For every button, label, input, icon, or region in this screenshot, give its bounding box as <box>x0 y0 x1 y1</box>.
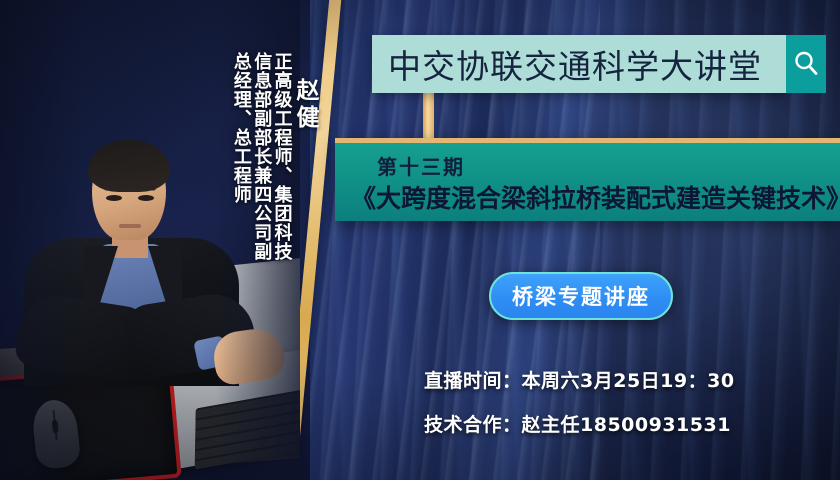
speaker-title-line-3: 总经理、总工程师 <box>231 52 249 204</box>
speaker-name: 赵健 <box>293 78 316 132</box>
search-icon-button[interactable] <box>786 35 826 93</box>
speaker-title-line-2: 信息部副部长兼四公司副 <box>252 52 270 261</box>
page-title: 中交协联交通科学大讲堂 <box>372 40 762 88</box>
webinar-poster: 赵健 正高级工程师、集团科技 信息部副部长兼四公司副 总经理、总工程师 中交协联… <box>0 0 840 480</box>
lecture-category-badge[interactable]: 桥梁专题讲座 <box>489 272 673 320</box>
speaker-credentials: 赵健 正高级工程师、集团科技 信息部副部长兼四公司副 总经理、总工程师 <box>176 16 316 316</box>
broadcast-time: 直播时间：本周六3月25日19：30 <box>424 366 735 393</box>
contact-info: 技术合作：赵主任18500931531 <box>424 410 731 437</box>
topic-title: 《大跨度混合梁斜拉桥装配式建造关键技术》 <box>351 179 840 215</box>
speaker-title-line-1: 正高级工程师、集团科技 <box>272 52 290 261</box>
search-icon <box>791 49 821 79</box>
main-title-bar: 中交协联交通科学大讲堂 <box>372 35 786 93</box>
gold-connector-bar <box>423 92 434 140</box>
subtitle-panel: 第十三期 《大跨度混合梁斜拉桥装配式建造关键技术》 <box>335 138 840 221</box>
episode-label: 第十三期 <box>377 151 465 180</box>
lecture-category-label: 桥梁专题讲座 <box>512 281 650 311</box>
